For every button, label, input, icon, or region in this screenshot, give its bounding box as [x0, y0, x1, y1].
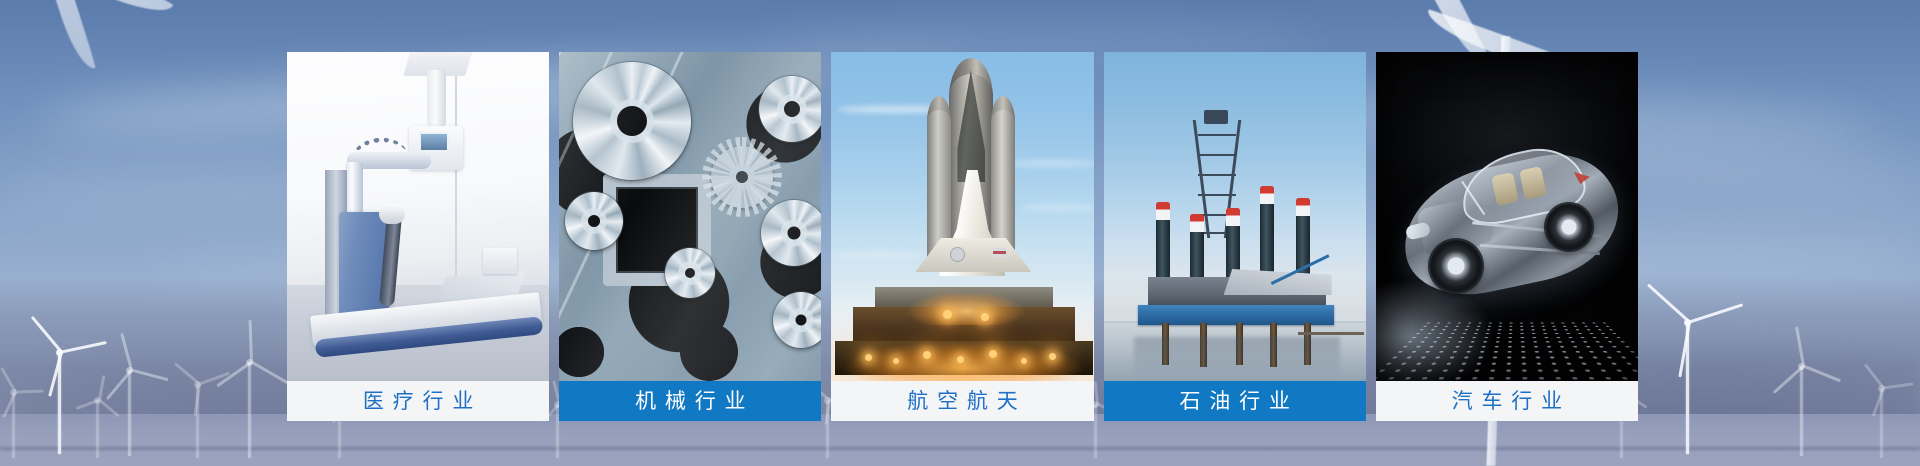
industry-card-petroleum[interactable]: 石油行业: [1104, 52, 1366, 421]
industry-card-medical[interactable]: 医疗行业: [287, 52, 549, 421]
gear-icon: [759, 76, 821, 142]
industry-label-petroleum[interactable]: 石油行业: [1104, 381, 1366, 421]
desert-ground: [0, 414, 1920, 466]
horizon-road-line: [0, 447, 1920, 450]
wind-turbine-icon: [12, 392, 15, 458]
wind-turbine-icon: [1800, 366, 1803, 456]
gear-icon: [665, 248, 715, 298]
cutaway-sports-car-image: [1376, 52, 1638, 381]
industry-label-automotive[interactable]: 汽车行业: [1376, 381, 1638, 421]
wind-turbine-icon: [96, 400, 99, 458]
offshore-oil-rig-image: [1104, 52, 1366, 381]
industry-panel-strip: 医疗行业 机械行业: [287, 52, 1638, 421]
wind-turbine-icon: [128, 370, 131, 456]
wind-turbine-icon: [1686, 322, 1689, 454]
industry-card-automotive[interactable]: 汽车行业: [1376, 52, 1638, 421]
industry-label-medical[interactable]: 医疗行业: [287, 381, 549, 421]
wind-turbine-icon: [1880, 388, 1883, 458]
wind-turbine-icon: [196, 384, 199, 458]
industry-label-machinery[interactable]: 机械行业: [559, 381, 821, 421]
space-shuttle-launch-pad-image: [831, 52, 1093, 381]
gear-icon: [565, 192, 623, 250]
gear-icon: [773, 292, 821, 348]
metal-gears-image: [559, 52, 821, 381]
industry-card-aerospace[interactable]: 航空航天: [831, 52, 1093, 421]
medical-xray-machine-image: [287, 52, 549, 381]
industry-card-machinery[interactable]: 机械行业: [559, 52, 821, 421]
wind-turbine-icon: [58, 352, 61, 454]
gear-icon: [573, 62, 691, 180]
gear-icon: [761, 200, 821, 266]
industry-label-aerospace[interactable]: 航空航天: [831, 381, 1093, 421]
wind-turbine-icon: [248, 362, 251, 458]
